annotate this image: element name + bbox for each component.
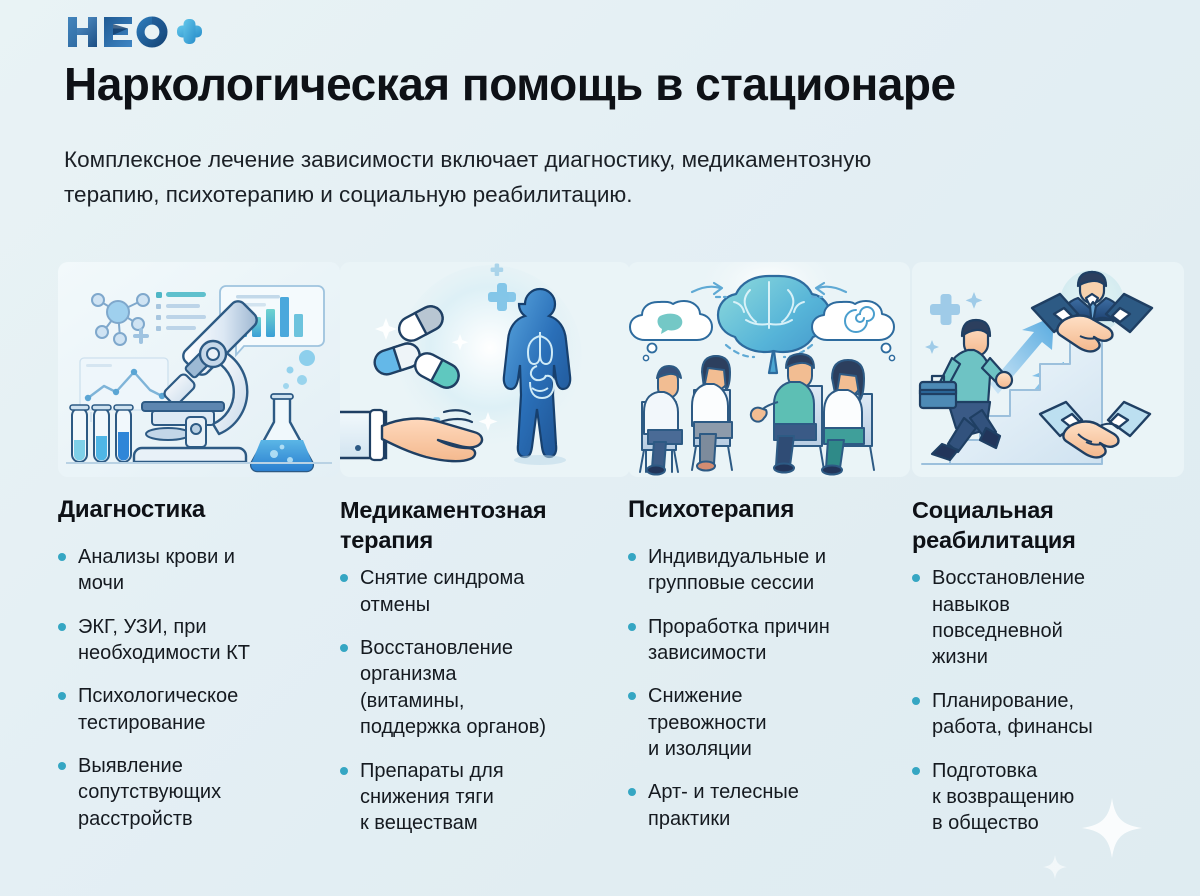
- list-item: Восстановление организма (витамины, подд…: [340, 635, 630, 741]
- bullet-list-diagnostics: Анализы крови и мочи ЭКГ, УЗИ, при необх…: [58, 544, 340, 833]
- bullet-dot-icon: [58, 553, 66, 561]
- bullet-dot-icon: [628, 553, 636, 561]
- bullet-text: Психологическое тестирование: [78, 683, 340, 736]
- bullet-list-psychotherapy: Индивидуальные и групповые сессии Прораб…: [628, 544, 910, 833]
- brand-logo: [64, 13, 204, 51]
- list-item: Проработка причин зависимости: [628, 614, 910, 667]
- column-psychotherapy: Психотерапия Индивидуальные и групповые …: [628, 262, 910, 849]
- corner-sparkle-small-icon: [1042, 854, 1068, 880]
- list-item: Снижение тревожности и изоляции: [628, 683, 910, 762]
- bullet-text: Восстановление навыков повседневной жизн…: [932, 565, 1184, 671]
- logo-letter-o: [137, 17, 168, 48]
- list-item: Индивидуальные и групповые сессии: [628, 544, 910, 597]
- logo-letter-h: [68, 17, 97, 47]
- bullet-text: Проработка причин зависимости: [648, 614, 910, 667]
- bullet-text: Индивидуальные и групповые сессии: [648, 544, 910, 597]
- bullet-text: Арт- и телесные практики: [648, 779, 910, 832]
- bullet-list-social-rehab: Восстановление навыков повседневной жизн…: [912, 565, 1184, 837]
- bullet-text: Препараты для снижения тяги к веществам: [360, 758, 630, 837]
- column-heading-diagnostics: Диагностика: [58, 495, 340, 526]
- list-item: Анализы крови и мочи: [58, 544, 340, 597]
- bullet-list-medication: Снятие синдрома отмены Восстановление ор…: [340, 565, 630, 837]
- bullet-dot-icon: [58, 692, 66, 700]
- infographic-page: Наркологическая помощь в стационаре Комп…: [0, 0, 1200, 896]
- page-title: Наркологическая помощь в стационаре: [64, 59, 1164, 111]
- bullet-dot-icon: [628, 788, 636, 796]
- group-therapy-brain-icon: [628, 262, 910, 477]
- logo-letter-e: [104, 17, 132, 47]
- bullet-dot-icon: [340, 644, 348, 652]
- page-subtitle: Комплексное лечение зависимости включает…: [64, 143, 944, 213]
- bullet-text: Подготовка к возвращению в общество: [932, 758, 1184, 837]
- bullet-dot-icon: [58, 623, 66, 631]
- bullet-dot-icon: [58, 762, 66, 770]
- list-item: Снятие синдрома отмены: [340, 565, 630, 618]
- list-item: ЭКГ, УЗИ, при необходимости КТ: [58, 614, 340, 667]
- column-medication: Медикаментозная терапия Снятие синдрома …: [340, 262, 630, 854]
- list-item: Психологическое тестирование: [58, 683, 340, 736]
- bullet-text: Выявление сопутствующих расстройств: [78, 753, 340, 832]
- column-heading-psychotherapy: Психотерапия: [628, 495, 910, 526]
- career-stairs-handshake-icon: [912, 262, 1184, 477]
- column-heading-medication: Медикаментозная терапия: [340, 495, 630, 555]
- bullet-dot-icon: [340, 767, 348, 775]
- bullet-dot-icon: [912, 697, 920, 705]
- list-item: Препараты для снижения тяги к веществам: [340, 758, 630, 837]
- bullet-dot-icon: [340, 574, 348, 582]
- column-social-rehab: Социальная реабилитация Восстановление н…: [912, 262, 1184, 854]
- bullet-text: Снижение тревожности и изоляции: [648, 683, 910, 762]
- list-item: Восстановление навыков повседневной жизн…: [912, 565, 1184, 671]
- test-tubes-icon: [70, 405, 133, 462]
- bullet-text: Восстановление организма (витамины, подд…: [360, 635, 630, 741]
- bullet-text: ЭКГ, УЗИ, при необходимости КТ: [78, 614, 340, 667]
- list-item: Арт- и телесные практики: [628, 779, 910, 832]
- logo-plus-icon: [177, 19, 202, 44]
- bullet-dot-icon: [912, 574, 920, 582]
- bullet-dot-icon: [628, 623, 636, 631]
- list-item: Подготовка к возвращению в общество: [912, 758, 1184, 837]
- column-heading-social-rehab: Социальная реабилитация: [912, 495, 1184, 555]
- microscope-lab-icon: [58, 262, 340, 477]
- list-item: Планирование, работа, финансы: [912, 688, 1184, 741]
- list-item: Выявление сопутствующих расстройств: [58, 753, 340, 832]
- bullet-text: Анализы крови и мочи: [78, 544, 340, 597]
- bullet-dot-icon: [628, 692, 636, 700]
- bullet-text: Планирование, работа, финансы: [932, 688, 1184, 741]
- column-diagnostics: Диагностика Анализы крови и мочи ЭКГ, УЗ…: [58, 262, 340, 849]
- bullet-dot-icon: [912, 767, 920, 775]
- hand-pills-body-icon: [340, 262, 630, 477]
- bullet-text: Снятие синдрома отмены: [360, 565, 630, 618]
